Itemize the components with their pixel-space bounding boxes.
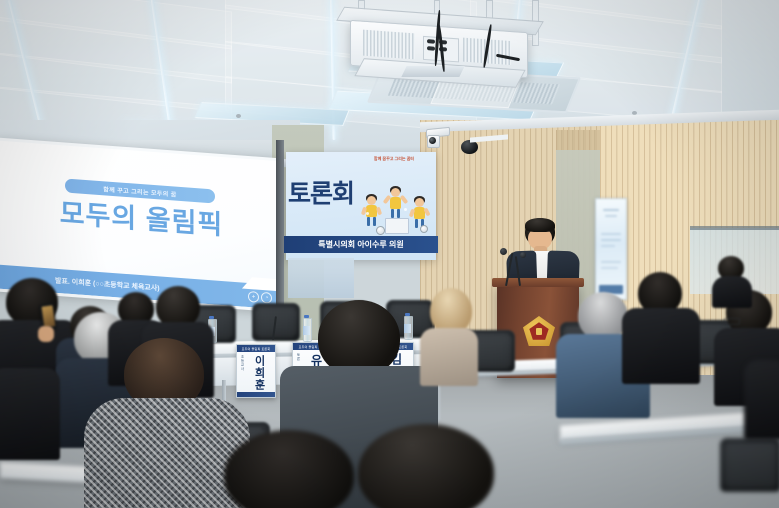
nameplate-1: 모두의 올림픽 토론회 초등교사 이희훈 (236, 344, 276, 398)
window-frame (690, 226, 779, 230)
ceiling-projector (336, 0, 546, 92)
banner-mini-text: 함께 꿈꾸고 그리는 꿈터 (368, 156, 420, 161)
audience-person-foreground (358, 424, 494, 508)
banner-mini-label: 함께 꿈꾸고 그리는 꿈터 (374, 156, 414, 161)
banner-subtitle-strip: 특별시의회 아이수루 의원 (284, 236, 438, 253)
eyeglasses-icon (724, 318, 740, 325)
conference-room-photo: 함께 꾸고 그리는 모두의 꿈 모두의 올림픽 발표. 이희훈 (○○초등학교 … (0, 0, 779, 508)
person-torso (744, 360, 779, 440)
person-torso (420, 328, 478, 386)
person-torso (622, 308, 700, 384)
audience-person (712, 256, 752, 304)
event-banner: 토론회 함께 꿈꾸고 그리는 꿈터 (286, 152, 436, 260)
speaker-hair (525, 218, 555, 232)
person-torso (712, 276, 752, 308)
slide-title: 모두의 올림픽 (39, 196, 244, 243)
person-head (224, 430, 354, 508)
audience-person (418, 288, 480, 384)
audience-person-foreground (92, 338, 242, 508)
audience-chair (720, 438, 779, 492)
kid-figure (410, 196, 430, 230)
podium-prop (385, 218, 409, 234)
audience-person (744, 360, 779, 440)
audience-person (0, 368, 60, 458)
audience-person-foreground (224, 430, 354, 508)
banner-title: 토론회 (288, 174, 354, 210)
banner-drape (288, 258, 354, 298)
panel-chair (252, 303, 300, 341)
person-torso (0, 368, 60, 460)
banner-subtitle-text: 특별시의회 아이수루 의원 (318, 239, 403, 250)
person-hand (38, 326, 54, 342)
person-head (358, 424, 494, 508)
clock-circle-icon: ◔ (261, 292, 272, 304)
screen-mount (276, 140, 284, 310)
wall-camera-white (424, 128, 450, 148)
nameplate-header: 모두의 올림픽 토론회 (237, 345, 275, 352)
plus-circle-icon: + (248, 291, 259, 303)
microphone-head (520, 252, 526, 258)
kid-figure (386, 186, 406, 222)
banner-illustration (358, 178, 432, 234)
assembly-crest-emblem (523, 316, 555, 346)
kid-figure (362, 194, 382, 228)
person-head (578, 292, 628, 340)
soccer-ball-icon (376, 226, 385, 235)
nameplate-name: 이희훈 (251, 354, 267, 392)
microphone-head (500, 248, 507, 255)
audience-person (622, 272, 698, 380)
soccer-ball-icon (420, 225, 428, 233)
person-head (318, 300, 400, 376)
